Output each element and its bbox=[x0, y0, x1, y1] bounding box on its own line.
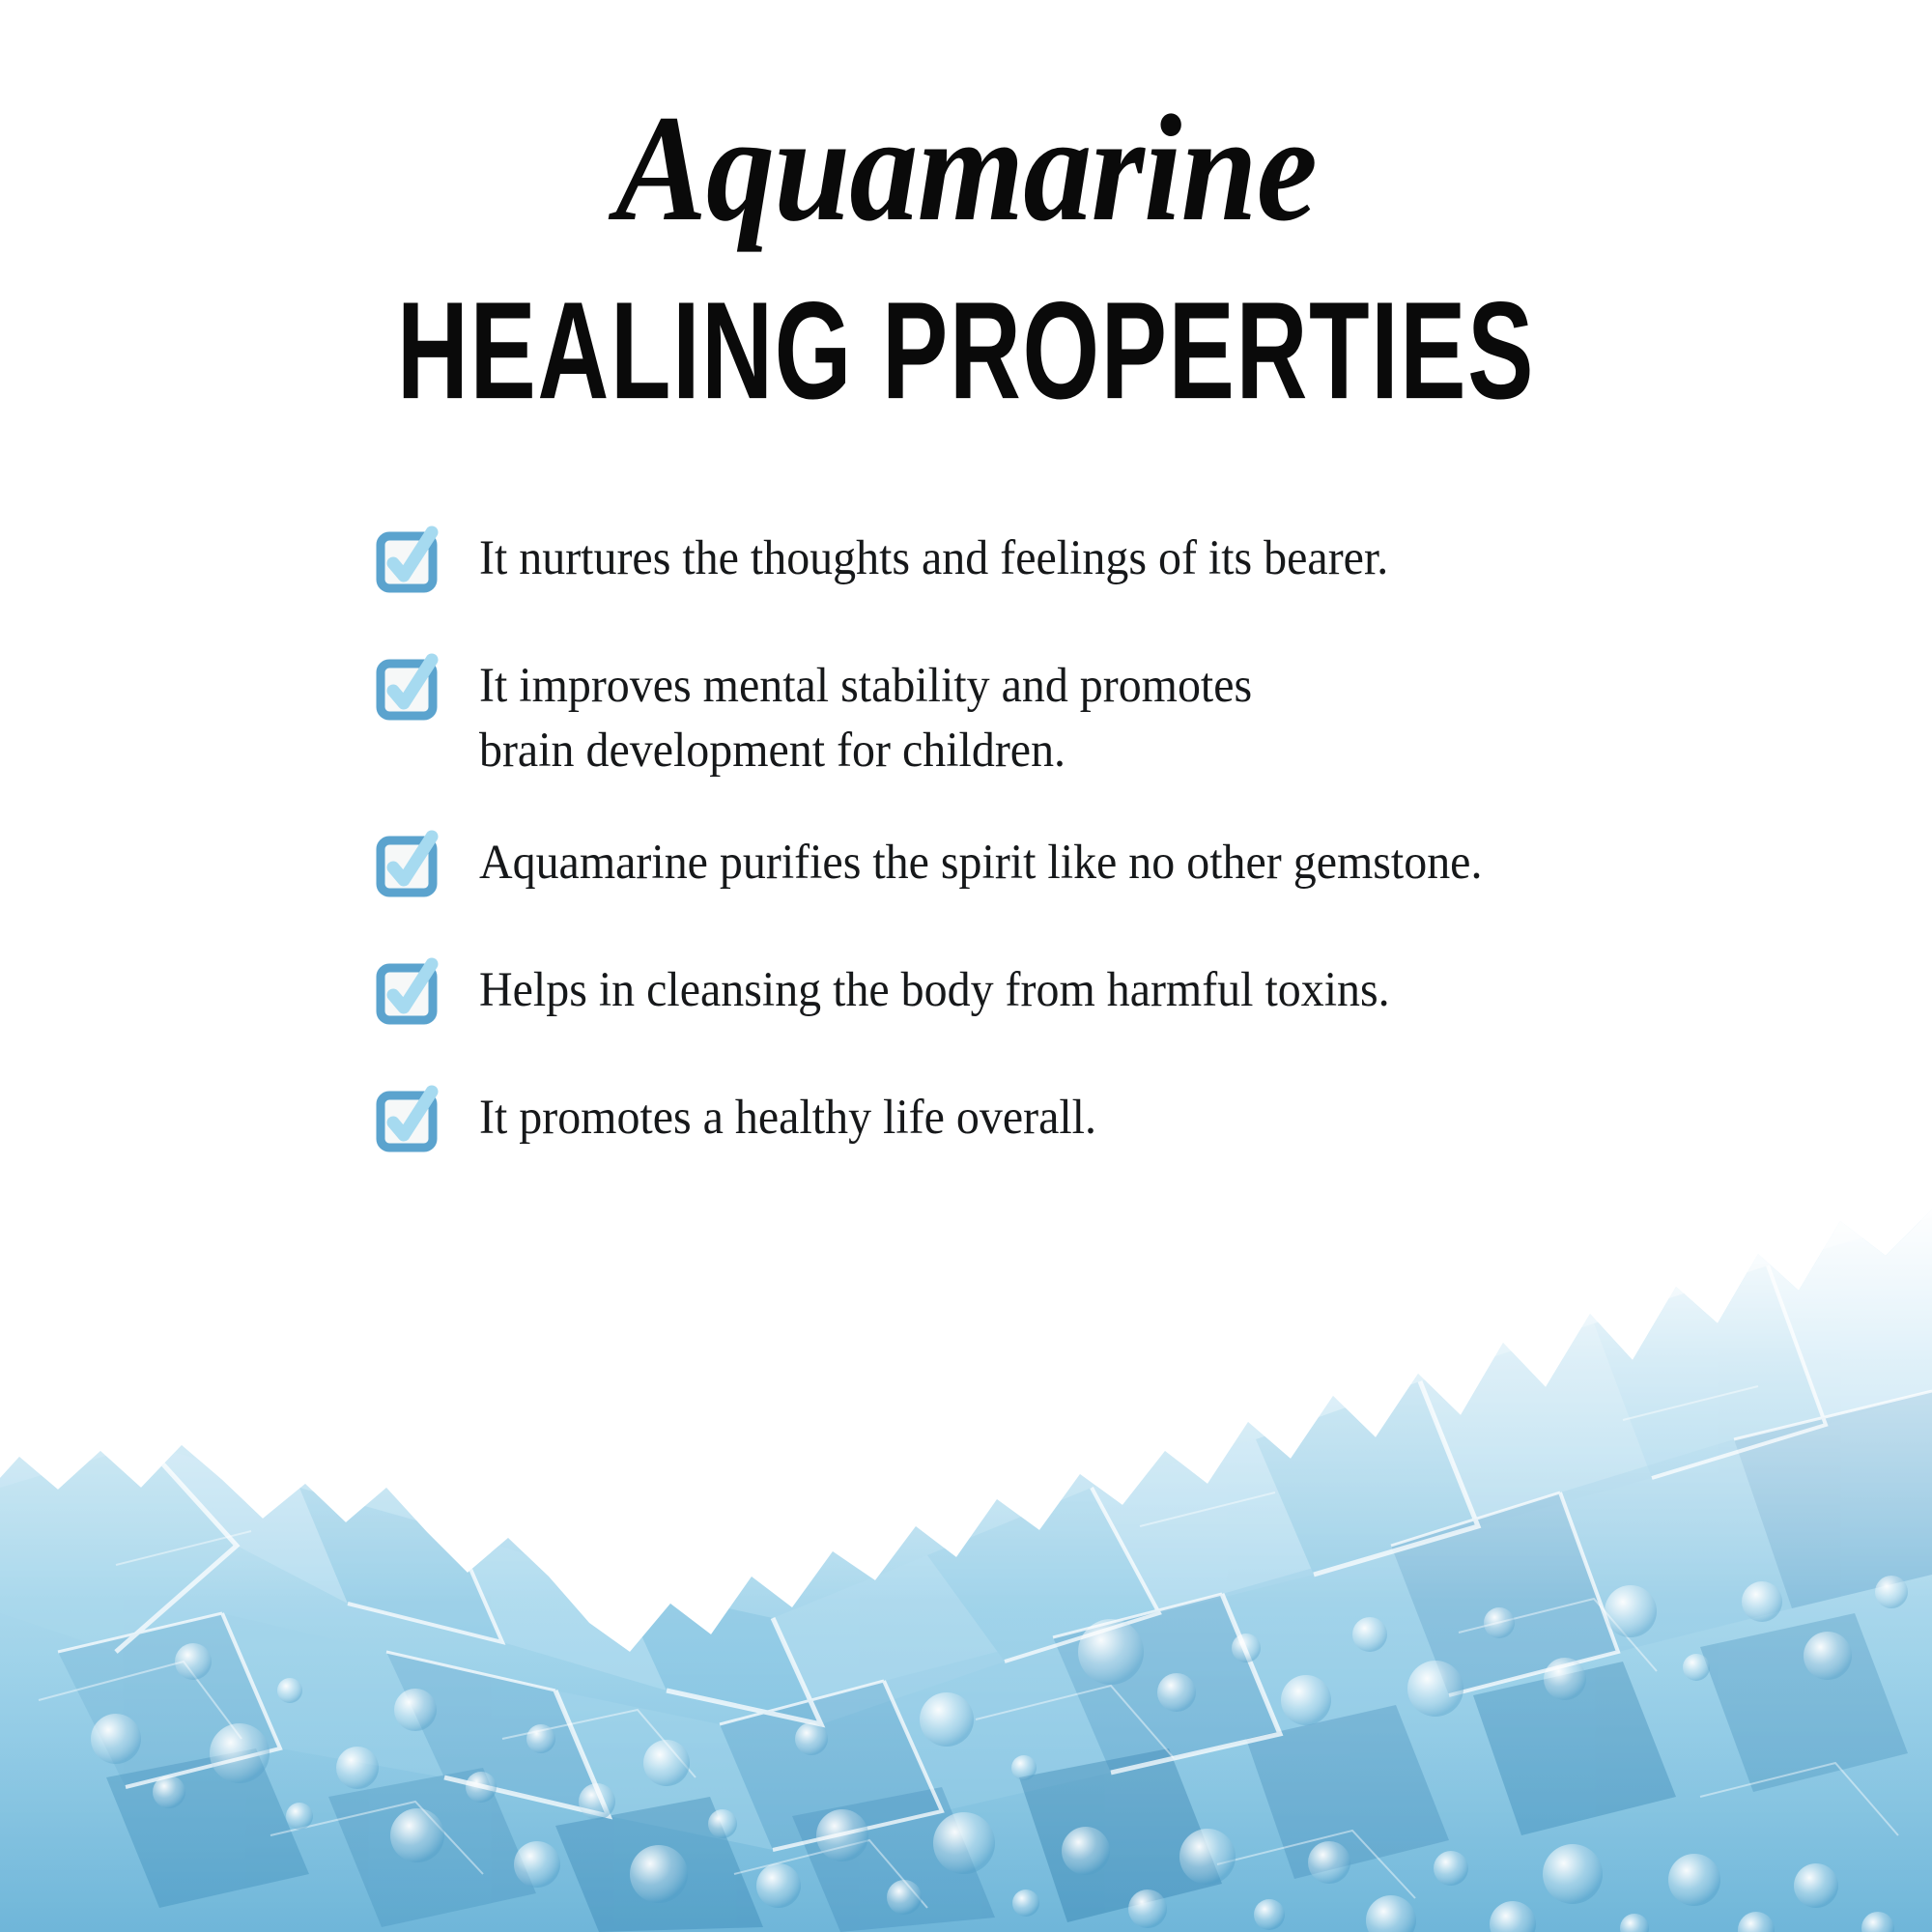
checked-checkbox-icon bbox=[377, 835, 437, 895]
list-item-label: It improves mental stability and promote… bbox=[479, 654, 1252, 782]
checked-checkbox-icon bbox=[377, 962, 437, 1022]
list-item-label: It nurtures the thoughts and feelings of… bbox=[479, 526, 1388, 590]
checked-checkbox-icon bbox=[377, 1090, 437, 1150]
list-item: Helps in cleansing the body from harmful… bbox=[377, 958, 1777, 1022]
page-subtitle: HEALING PROPERTIES bbox=[193, 282, 1739, 420]
list-item: It improves mental stability and promote… bbox=[377, 654, 1777, 782]
checked-checkbox-icon bbox=[377, 530, 437, 590]
list-item-label: Aquamarine purifies the spirit like no o… bbox=[479, 831, 1482, 895]
page-title: Aquamarine bbox=[97, 93, 1835, 245]
healing-properties-list: It nurtures the thoughts and feelings of… bbox=[377, 526, 1777, 1214]
list-item-label: Helps in cleansing the body from harmful… bbox=[479, 958, 1390, 1022]
poster-canvas: Aquamarine HEALING PROPERTIES It nurture… bbox=[0, 0, 1932, 1932]
list-item: It promotes a healthy life overall. bbox=[377, 1086, 1777, 1150]
heading-block: Aquamarine HEALING PROPERTIES bbox=[0, 93, 1932, 413]
crushed-ice-cubes-photo bbox=[0, 1198, 1932, 1932]
list-item: Aquamarine purifies the spirit like no o… bbox=[377, 831, 1777, 895]
checked-checkbox-icon bbox=[377, 658, 437, 718]
list-item: It nurtures the thoughts and feelings of… bbox=[377, 526, 1777, 590]
list-item-label: It promotes a healthy life overall. bbox=[479, 1086, 1096, 1150]
